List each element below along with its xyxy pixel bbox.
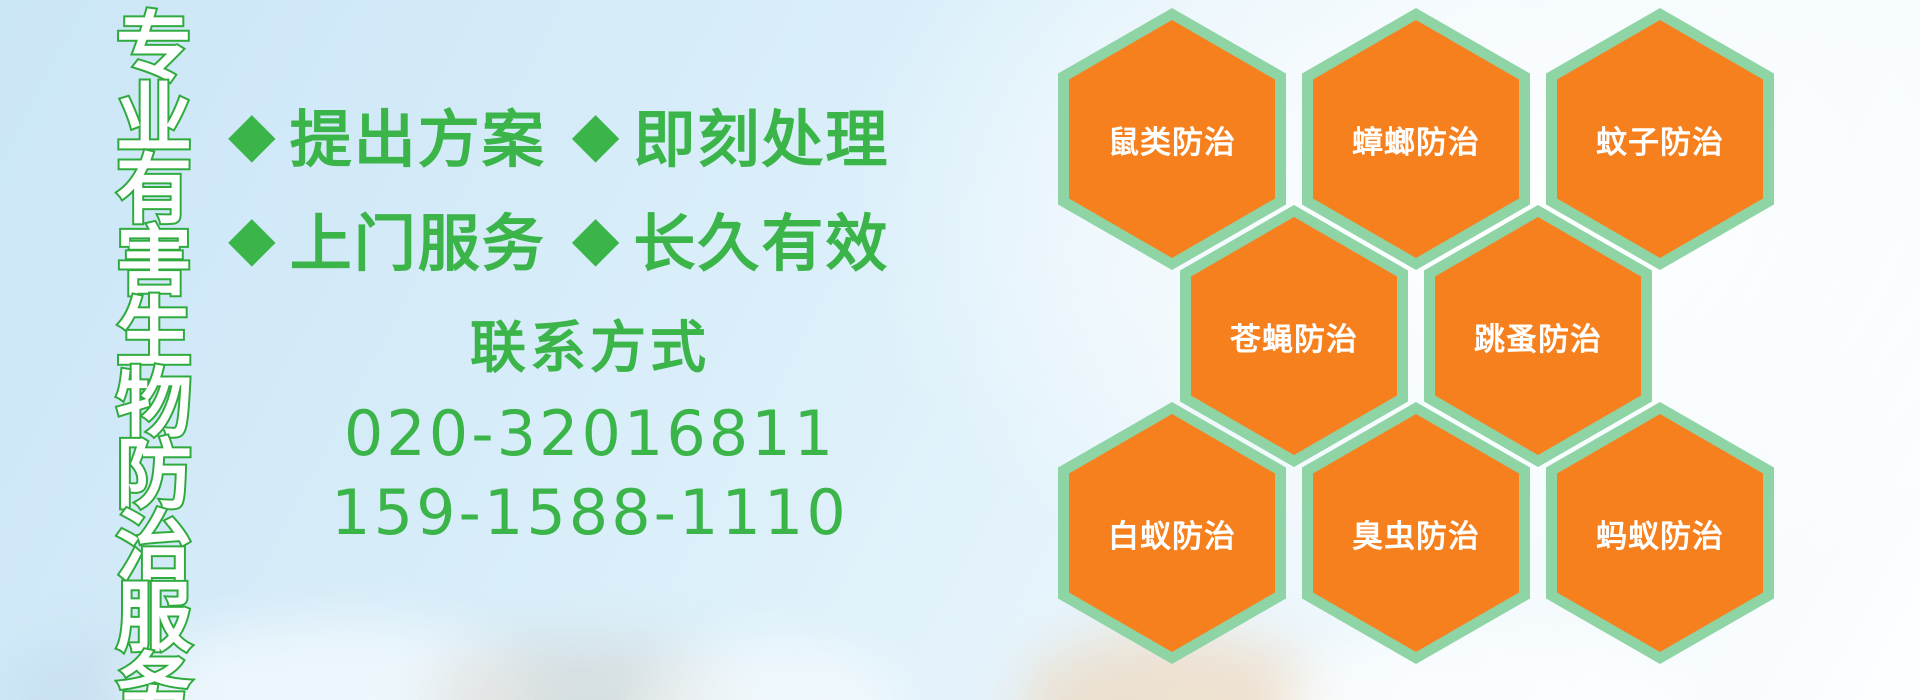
service-label: 蚂蚁防治: [1596, 511, 1724, 556]
feature-row: ◆ 提出方案 ◆ 即刻处理: [228, 82, 889, 186]
vertical-headline-char: 务: [116, 651, 192, 700]
hex-inner: 蚂蚁防治: [1557, 414, 1763, 652]
haze-blob: [640, 640, 900, 700]
service-label: 苍蝇防治: [1230, 314, 1358, 359]
diamond-bullet-icon: ◆: [572, 207, 620, 269]
hex-inner: 臭虫防治: [1313, 414, 1519, 652]
service-label: 跳蚤防治: [1474, 314, 1602, 359]
diamond-bullet-icon: ◆: [572, 103, 620, 165]
phone-landline[interactable]: 020-32016811: [300, 394, 880, 473]
service-hex-grid: 鼠类防治 蟑螂防治 蚊子防治 苍蝇防治 跳蚤防治 白蚁防治: [1040, 0, 1920, 700]
service-label: 蚊子防治: [1596, 117, 1724, 162]
contact-block: 联系方式 020-32016811 159-1588-1110: [300, 318, 880, 552]
service-label: 白蚁防治: [1108, 511, 1236, 556]
feature-label: 上门服务: [290, 193, 546, 283]
haze-blob: [430, 640, 730, 700]
diamond-bullet-icon: ◆: [228, 207, 276, 269]
feature-label: 即刻处理: [633, 89, 889, 179]
hex-inner: 跳蚤防治: [1435, 217, 1641, 455]
diamond-bullet-icon: ◆: [228, 103, 276, 165]
feature-label: 提出方案: [290, 89, 546, 179]
feature-list: ◆ 提出方案 ◆ 即刻处理 ◆ 上门服务 ◆ 长久有效: [228, 82, 889, 290]
phone-mobile[interactable]: 159-1588-1110: [300, 473, 880, 552]
hex-inner: 蚊子防治: [1557, 20, 1763, 258]
hex-inner: 白蚁防治: [1069, 414, 1275, 652]
service-label: 蟑螂防治: [1352, 117, 1480, 162]
contact-heading: 联系方式: [300, 318, 880, 380]
vertical-headline: 专 业 有 害 生 物 防 治 服 务: [106, 10, 202, 700]
hex-inner: 鼠类防治: [1069, 20, 1275, 258]
hex-inner: 蟑螂防治: [1313, 20, 1519, 258]
pest-control-banner: 专 业 有 害 生 物 防 治 服 务 ◆ 提出方案 ◆ 即刻处理 ◆ 上门服务…: [0, 0, 1920, 700]
service-label: 鼠类防治: [1108, 117, 1236, 162]
feature-row: ◆ 上门服务 ◆ 长久有效: [228, 186, 889, 290]
feature-label: 长久有效: [633, 193, 889, 283]
service-label: 臭虫防治: [1352, 511, 1480, 556]
hex-inner: 苍蝇防治: [1191, 217, 1397, 455]
